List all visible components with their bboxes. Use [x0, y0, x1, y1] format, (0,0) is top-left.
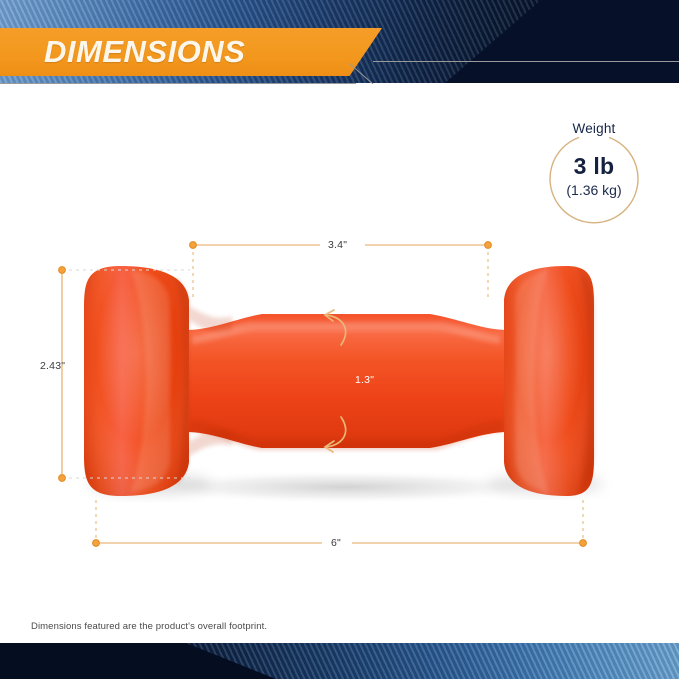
weight-value-metric: (1.36 kg) [548, 182, 640, 198]
dimension-label-handle-length: 3.4" [328, 239, 347, 251]
footnote: Dimensions featured are the product's ov… [31, 621, 267, 632]
dimension-label-overall-length: 6" [331, 537, 341, 549]
footer-band [0, 643, 679, 679]
weight-value: 3 lb [548, 153, 640, 180]
dimension-annotations [0, 0, 679, 679]
dimension-label-handle-diameter: 1.3" [355, 374, 374, 386]
dimensions-infographic: DIMENSIONS [0, 0, 679, 679]
weight-caption: Weight [548, 121, 640, 136]
dimension-label-height: 2.43" [40, 360, 65, 372]
weight-badge: Weight 3 lb (1.36 kg) [548, 133, 640, 225]
